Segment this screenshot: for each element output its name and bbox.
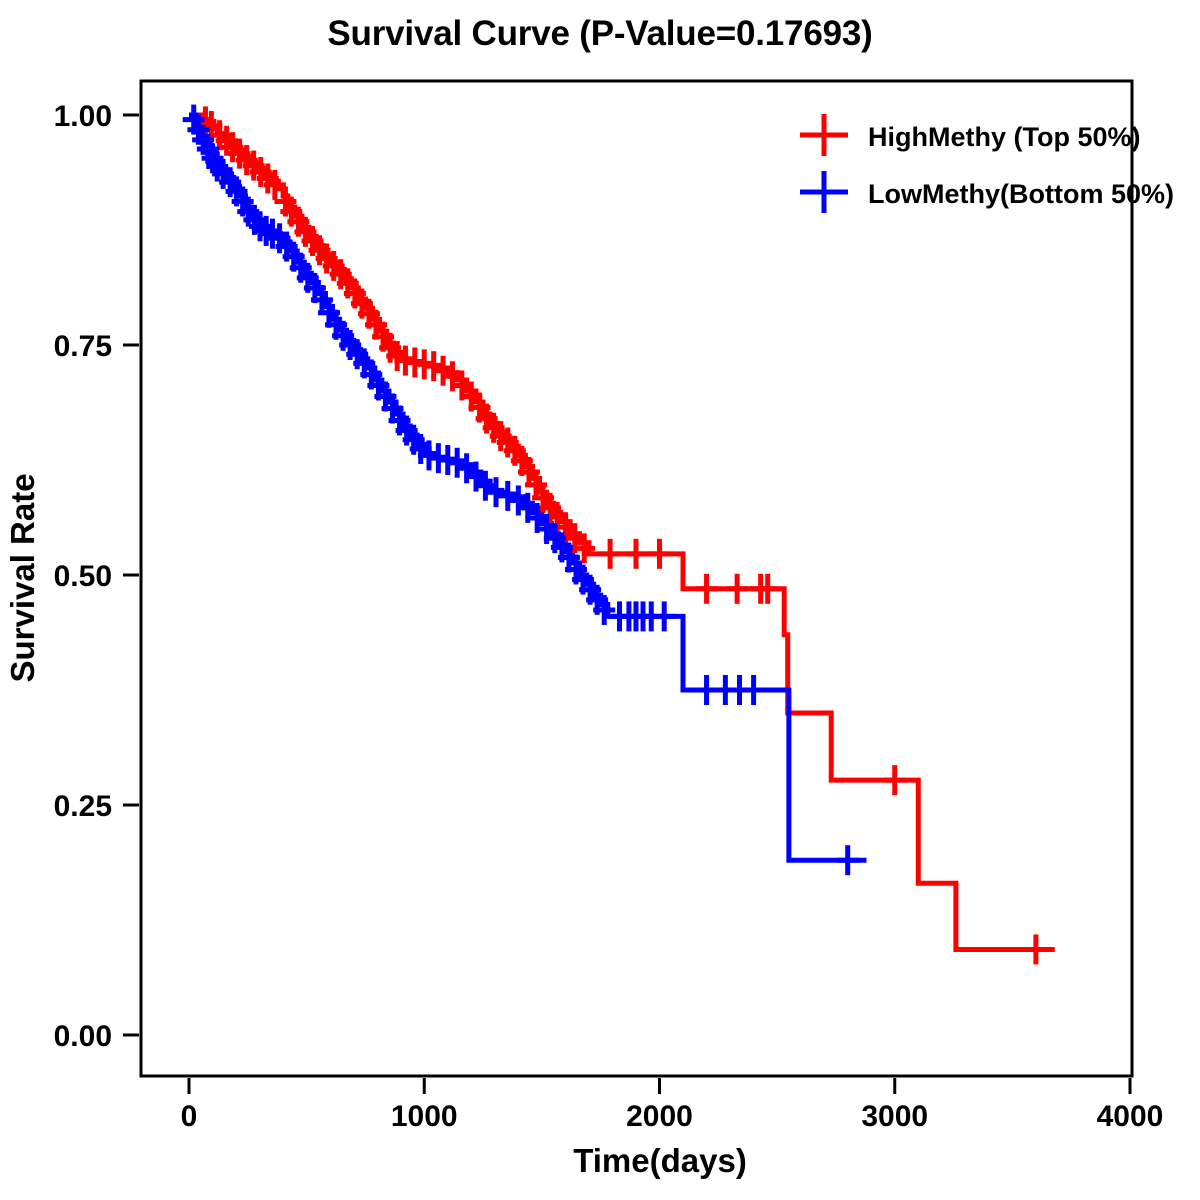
y-tick-label: 1.00 — [54, 100, 112, 133]
x-tick-label: 1000 — [391, 1100, 458, 1133]
x-tick-label: 3000 — [861, 1100, 928, 1133]
y-axis-title: Survival Rate — [4, 473, 41, 682]
legend-label-highmethy: HighMethy (Top 50%) — [868, 122, 1141, 152]
x-axis-ticks: 01000200030004000 — [181, 1078, 1164, 1133]
x-tick-label: 4000 — [1097, 1100, 1164, 1133]
x-tick-label: 2000 — [626, 1100, 693, 1133]
y-tick-label: 0.00 — [54, 1020, 112, 1053]
y-axis-ticks: 0.000.250.500.751.00 — [54, 100, 139, 1053]
y-tick-label: 0.75 — [54, 330, 112, 363]
legend-label-lowmethy: LowMethy(Bottom 50%) — [868, 179, 1174, 209]
x-axis-title: Time(days) — [573, 1142, 747, 1179]
y-tick-label: 0.50 — [54, 560, 112, 593]
survival-curve-figure: Survival Curve (P-Value=0.17693) 0100020… — [0, 0, 1200, 1200]
plot-panel-background — [141, 81, 1132, 1076]
y-tick-label: 0.25 — [54, 790, 112, 823]
x-tick-label: 0 — [181, 1100, 198, 1133]
survival-plot: 01000200030004000 0.000.250.500.751.00 T… — [0, 0, 1200, 1200]
